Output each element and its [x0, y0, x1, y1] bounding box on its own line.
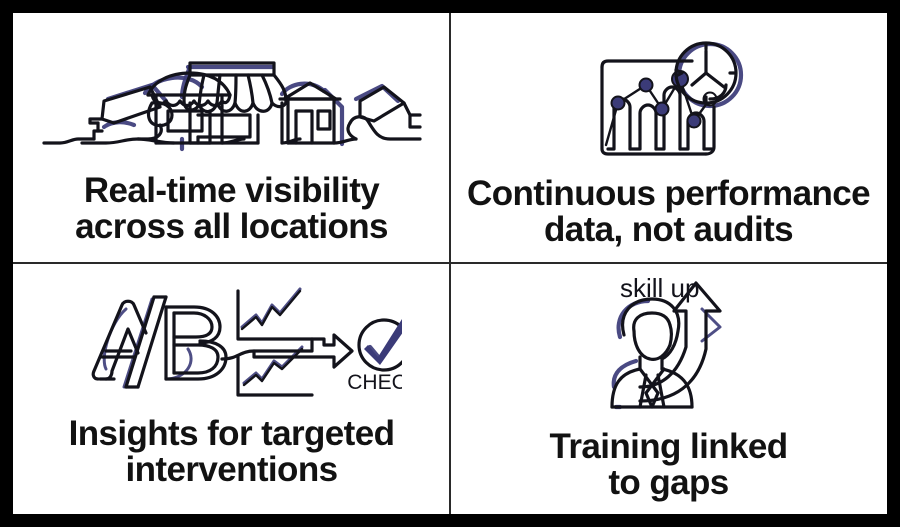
bar-chart-with-clock-icon — [584, 37, 754, 162]
outer-frame: Real-time visibility across all location… — [0, 0, 900, 527]
storefronts-with-security-cameras-icon — [42, 39, 422, 157]
feature-cell-visibility[interactable]: Real-time visibility across all location… — [13, 13, 450, 263]
feature-cell-performance[interactable]: Continuous performance data, not audits — [450, 13, 887, 263]
cell-title-insights: Insights for targeted interventions — [63, 416, 401, 489]
feature-grid: Real-time visibility across all location… — [13, 13, 887, 514]
cell-title-training: Training linked to gaps — [544, 429, 794, 502]
cell-title-visibility: Real-time visibility across all location… — [69, 173, 394, 246]
cell-title-performance: Continuous performance data, not audits — [461, 176, 876, 249]
check-label: CHECK — [347, 371, 402, 394]
ab-test-split-charts-check-icon: CHECK — [62, 283, 402, 398]
horizontal-divider — [13, 262, 887, 264]
feature-cell-insights[interactable]: CHECK Insights for targeted intervention… — [13, 263, 450, 514]
person-with-skill-up-arrow-icon: skill up — [574, 275, 764, 415]
feature-cell-training[interactable]: skill up Tr — [450, 263, 887, 514]
